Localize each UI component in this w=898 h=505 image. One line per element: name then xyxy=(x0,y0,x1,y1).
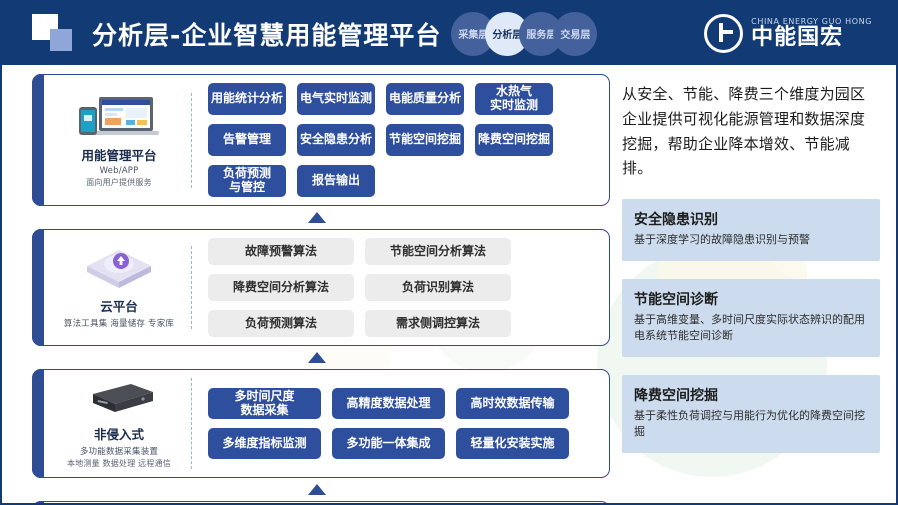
feature-card-desc: 基于高维变量、多时间尺度实际状态辨识的配用电系统节能空间诊断 xyxy=(634,312,868,345)
layer-tag[interactable]: 轻量化安装实施 xyxy=(456,428,569,459)
layer-tag[interactable]: 多时间尺度数据采集 xyxy=(208,388,321,419)
layer-tag[interactable]: 负荷识别算法 xyxy=(365,274,511,301)
layer-side-title: 云平台 xyxy=(100,296,138,315)
stage-circle-label: 采集层 xyxy=(458,26,488,41)
layer-side-title: 非侵入式 xyxy=(94,424,144,443)
layer-tag[interactable]: 负荷预测与管控 xyxy=(208,165,286,197)
layer-tag[interactable]: 需求侧调控算法 xyxy=(365,310,511,337)
layer-tag[interactable]: 安全隐患分析 xyxy=(297,124,375,156)
data-acquisition-device-icon xyxy=(79,378,159,420)
layer-tag[interactable]: 节能空间分析算法 xyxy=(365,238,511,265)
layer-side-subtitle-2: 本地测量 数据处理 远程通信 xyxy=(67,458,171,469)
layer-tag[interactable]: 电能质量分析 xyxy=(386,83,464,115)
page-title: 分析层-企业智慧用能管理平台 xyxy=(92,16,441,52)
page-header: 分析层-企业智慧用能管理平台 采集层 分析层 服务层 交易层 CHINA ENE… xyxy=(2,2,896,65)
layer-tag[interactable]: 告警管理 xyxy=(208,124,286,156)
layer-tag-list-cloud: 故障预警算法 节能空间分析算法 降费空间分析算法 负荷识别算法 负荷预测算法 需… xyxy=(192,238,599,337)
feature-card-title: 降费空间挖掘 xyxy=(634,385,868,405)
layer-tag[interactable]: 多维度指标监测 xyxy=(208,428,321,459)
layer-side-subtitle: 算法工具集 海量储存 专家库 xyxy=(64,317,174,329)
layer-side-title: 用能管理平台 xyxy=(81,145,156,164)
layer-tag[interactable]: 节能空间挖掘 xyxy=(386,124,464,156)
brand-mark-icon xyxy=(704,14,743,53)
cloud-platform-icon xyxy=(83,246,155,292)
feature-card-cost-reduction[interactable]: 降费空间挖掘 基于柔性负荷调控与用能行为优化的降费空间挖掘 xyxy=(622,375,880,453)
stage-circle-group: 采集层 分析层 服务层 交易层 xyxy=(451,8,597,60)
architecture-stack: 用能管理平台 Web/APP 面向用户提供服务 用能统计分析 电气实时监测 电能… xyxy=(32,74,610,505)
layer-tag[interactable]: 降费空间分析算法 xyxy=(208,274,354,301)
layer-side-subtitle-2: 面向用户提供服务 xyxy=(86,177,152,188)
layer-side-cloud: 云平台 算法工具集 海量储存 专家库 xyxy=(53,246,192,329)
header-logo-squares-icon xyxy=(32,14,78,54)
feature-card-title: 安全隐患识别 xyxy=(634,209,868,229)
device-panel: 变压器 xyxy=(32,501,610,505)
feature-card-energy-saving[interactable]: 节能空间诊断 基于高维变量、多时间尺度实际状态辨识的配用电系统节能空间诊断 xyxy=(622,279,880,357)
layer-tag[interactable]: 报告输出 xyxy=(297,165,375,197)
flow-arrow-up-icon xyxy=(308,212,326,223)
layer-panel-cloud: 云平台 算法工具集 海量储存 专家库 故障预警算法 节能空间分析算法 降费空间分… xyxy=(32,229,610,346)
layer-tag[interactable]: 电气实时监测 xyxy=(297,83,375,115)
layer-tag-list-platform: 用能统计分析 电气实时监测 电能质量分析 水热气实时监测 告警管理 安全隐患分析… xyxy=(192,83,599,197)
layer-tag[interactable]: 负荷预测算法 xyxy=(208,310,354,337)
stage-circle-label: 分析层 xyxy=(492,26,522,41)
layer-side-platform: 用能管理平台 Web/APP 面向用户提供服务 xyxy=(53,93,192,188)
layer-panel-platform: 用能管理平台 Web/APP 面向用户提供服务 用能统计分析 电气实时监测 电能… xyxy=(32,74,610,206)
feature-card-desc: 基于深度学习的故障隐患识别与预警 xyxy=(634,232,868,249)
layer-tag[interactable]: 用能统计分析 xyxy=(208,83,286,115)
feature-card-safety[interactable]: 安全隐患识别 基于深度学习的故障隐患识别与预警 xyxy=(622,199,880,261)
layer-tag[interactable]: 水热气实时监测 xyxy=(475,83,553,115)
layer-side-device: 非侵入式 多功能数据采集装置 本地测量 数据处理 远程通信 xyxy=(53,378,192,469)
slide-page: 分析层-企业智慧用能管理平台 采集层 分析层 服务层 交易层 CHINA ENE… xyxy=(0,0,898,505)
layer-tag-list-device: 多时间尺度数据采集 高精度数据处理 高时效数据传输 多维度指标监测 多功能一体集… xyxy=(192,388,599,459)
right-panel: 从安全、节能、降费三个维度为园区企业提供可视化能源管理和数据深度挖掘，帮助企业降… xyxy=(622,82,880,453)
layer-side-subtitle: 多功能数据采集装置 xyxy=(80,445,158,457)
layer-tag[interactable]: 高时效数据传输 xyxy=(456,388,569,419)
feature-card-desc: 基于柔性负荷调控与用能行为优化的降费空间挖掘 xyxy=(634,408,868,441)
layer-tag[interactable]: 多功能一体集成 xyxy=(332,428,445,459)
layer-tag[interactable]: 故障预警算法 xyxy=(208,238,354,265)
feature-card-title: 节能空间诊断 xyxy=(634,289,868,309)
flow-arrow-up-icon xyxy=(308,352,326,363)
brand-name-cn: 中能国宏 xyxy=(751,26,872,49)
stage-circle-label: 交易层 xyxy=(560,26,590,41)
stage-circle-label: 服务层 xyxy=(526,26,556,41)
layer-side-subtitle: Web/APP xyxy=(100,166,139,176)
layer-tag[interactable]: 高精度数据处理 xyxy=(332,388,445,419)
stage-circle-trade[interactable]: 交易层 xyxy=(553,12,597,56)
flow-arrow-up-icon xyxy=(308,484,326,495)
brand-logo: CHINA ENERGY GUO HONG 中能国宏 xyxy=(704,14,872,53)
intro-paragraph: 从安全、节能、降费三个维度为园区企业提供可视化能源管理和数据深度挖掘，帮助企业降… xyxy=(622,82,880,181)
laptop-phone-dashboard-icon xyxy=(73,93,165,141)
layer-tag[interactable]: 降费空间挖掘 xyxy=(475,124,553,156)
layer-panel-device: 非侵入式 多功能数据采集装置 本地测量 数据处理 远程通信 多时间尺度数据采集 … xyxy=(32,369,610,478)
